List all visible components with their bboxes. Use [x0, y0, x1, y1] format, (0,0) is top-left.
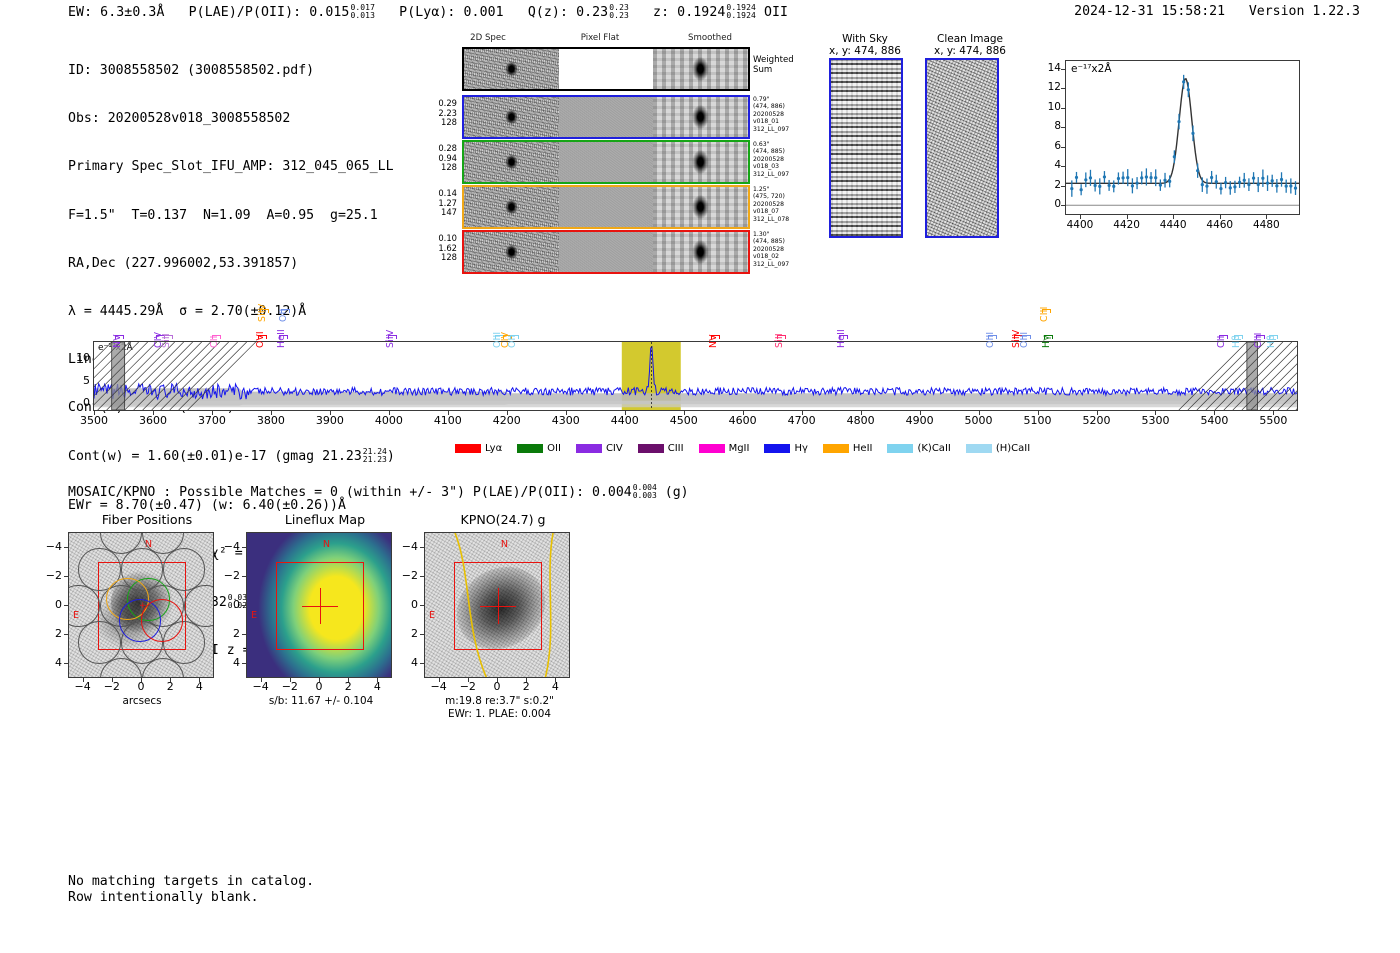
fullspec-xtick: 4400 — [600, 414, 650, 427]
legend-label: OII — [547, 443, 561, 454]
spec2d-row-fiber-3 — [462, 185, 750, 229]
spectral-line-bracket — [388, 335, 397, 339]
fullspec-ytick: 5 — [64, 374, 90, 387]
spec2d-right-labels-3: 1.25" (475, 720) 20200528 v018_07 312_LL… — [753, 186, 813, 223]
fullspec-xtick: 4100 — [423, 414, 473, 427]
panel-ytick: −2 — [216, 569, 240, 582]
qz-value: 0.23 — [576, 5, 608, 20]
fullspec-ytick: 10 — [64, 351, 90, 364]
legend-label: (H)CaII — [996, 443, 1030, 454]
fullspec-xtick: 4300 — [541, 414, 591, 427]
emline-xtick: 4440 — [1151, 219, 1195, 231]
spec2d-right-labels-2: 0.63" (474, 885) 20200528 v018_03 312_LL… — [753, 141, 813, 178]
timestamp-version: 2024-12-31 15:58:21 Version 1.22.3 — [1074, 4, 1360, 19]
fullspec-xtick: 3800 — [246, 414, 296, 427]
panel-ytick: 0 — [38, 598, 62, 611]
compass-east-label: E — [251, 610, 257, 621]
legend-label: MgII — [729, 443, 750, 454]
plae-label: P(LAE)/P(OII): — [189, 5, 302, 20]
emline-xtick: 4400 — [1058, 219, 1102, 231]
legend-item: CIII — [638, 443, 684, 454]
fullspec-xtick: 5100 — [1013, 414, 1063, 427]
spec2d-montage: 2D Spec Pixel Flat Smoothed WeightedSum … — [435, 33, 765, 245]
info-line-seeing: F=1.5" T=0.137 N=1.09 A=0.95 g=25.1 — [68, 208, 395, 224]
panel-ytick: 0 — [394, 598, 418, 611]
fullspec-xtick: 5000 — [954, 414, 1004, 427]
spectral-line-bracket — [212, 335, 221, 339]
clean-image-title: Clean Image x, y: 474, 886 — [920, 33, 1020, 58]
fullspec-xtick: 4700 — [777, 414, 827, 427]
legend-item: (K)CaII — [887, 443, 950, 454]
spectral-line-bracket — [279, 335, 288, 339]
fullspec-xtick: 5300 — [1130, 414, 1180, 427]
spectral-line-bracket — [510, 335, 519, 339]
emline-ytick: 10 — [1035, 101, 1061, 113]
fiber-circle — [78, 621, 120, 663]
info-line-obs: Obs: 20200528v018_3008558502 — [68, 111, 395, 127]
emline-ytick: 0 — [1035, 198, 1061, 210]
legend-swatch — [887, 444, 913, 453]
with-sky-image — [829, 58, 903, 238]
plae-value: 0.015 — [309, 5, 349, 20]
legend-item: Hγ — [764, 443, 807, 454]
emline-xtick: 4480 — [1244, 219, 1288, 231]
weighted-sum-label: WeightedSum — [753, 55, 794, 75]
clean-image — [925, 58, 999, 238]
legend-item: MgII — [699, 443, 750, 454]
spectral-line-bracket — [1234, 335, 1243, 339]
spectrum-legend: LyαOIICIVCIIIMgIIHγHeII(K)CaII(H)CaII — [455, 443, 1041, 454]
spectral-line-bracket — [1269, 335, 1278, 339]
panel-ytick: 4 — [394, 656, 418, 669]
timestamp: 2024-12-31 15:58:21 — [1074, 4, 1225, 19]
crosshair — [320, 588, 321, 623]
legend-swatch — [517, 444, 543, 453]
fullspec-xtick: 3900 — [305, 414, 355, 427]
panel-ytick: 4 — [216, 656, 240, 669]
spectral-line-bracket — [1256, 335, 1265, 339]
plae-lo: 0.013 — [350, 11, 375, 20]
fullspec-xtick: 3500 — [69, 414, 119, 427]
target-marker: + — [139, 603, 145, 609]
panel-ytick: −4 — [38, 540, 62, 553]
fullspec-xtick: 4900 — [895, 414, 945, 427]
spec2d-row-fiber-2 — [462, 140, 750, 184]
z-lo: 0.1924 — [726, 11, 756, 20]
kpno-image: NE — [424, 532, 570, 678]
emline-ytick: 4 — [1035, 159, 1061, 171]
footer-line-2: Row intentionally blank. — [68, 890, 314, 906]
panel-ytick: 2 — [38, 627, 62, 640]
z-type: OII — [764, 5, 788, 20]
emline-ytick: 12 — [1035, 81, 1061, 93]
spectral-line-bracket — [1219, 335, 1228, 339]
spec2d-right-labels-4: 1.30" (474, 885) 20200528 v018_02 312_LL… — [753, 231, 813, 268]
legend-label: Hγ — [794, 443, 807, 454]
qz-label: Q(z): — [528, 5, 568, 20]
col-title-2dspec: 2D Spec — [433, 33, 543, 43]
panel-ytick: −4 — [216, 540, 240, 553]
fullspec-xtick: 4500 — [659, 414, 709, 427]
with-sky-title: With Sky x, y: 474, 886 — [820, 33, 910, 58]
z-label: z: — [653, 5, 669, 20]
footer-note: No matching targets in catalog. Row inte… — [68, 874, 314, 907]
fiber-positions-image: NE+ — [68, 532, 214, 678]
panel-ytick: −2 — [38, 569, 62, 582]
info-line-slot: Primary Spec_Slot_IFU_AMP: 312_045_065_L… — [68, 159, 395, 175]
spec2d-row-summary — [462, 47, 750, 91]
panel-ytick: 0 — [216, 598, 240, 611]
mosaic-match-line: MOSAIC/KPNO : Possible Matches = 0 (with… — [68, 484, 689, 500]
legend-swatch — [823, 444, 849, 453]
legend-label: CIV — [606, 443, 623, 454]
spectral-line-label: OVI — [255, 331, 266, 348]
info-line-id: ID: 3008558502 (3008558502.pdf) — [68, 63, 395, 79]
fullspec-xtick: 5400 — [1189, 414, 1239, 427]
spec2d-left-labels-3: 0.14 1.27 147 — [413, 189, 457, 218]
emission-line-plot: e⁻¹⁷x2Å 0246810121444004420444044604480 — [1035, 55, 1305, 245]
fullspec-xtick: 4600 — [718, 414, 768, 427]
fiber-positions-title: Fiber Positions — [62, 512, 232, 527]
z-value: 0.1924 — [677, 5, 725, 20]
legend-label: CIII — [668, 443, 684, 454]
spec2d-row-fiber-4 — [462, 230, 750, 274]
kpno-caption: m:19.8 re:3.7" s:0.2" EWr: 1. PLAE: 0.00… — [412, 695, 587, 721]
fiber-circle — [163, 548, 205, 590]
compass-north-label: N — [323, 539, 330, 550]
spectral-line-bracket — [115, 335, 124, 339]
spectral-line-bracket — [164, 335, 173, 339]
info-line-radec: RA,Dec (227.996002,53.391857) — [68, 256, 395, 272]
legend-item: HeII — [823, 443, 873, 454]
summary-header: EW: 6.3±0.3Å P(LAE)/P(OII): 0.0150.0170.… — [68, 4, 788, 20]
legend-swatch — [638, 444, 664, 453]
spec2d-left-labels-1: 0.29 2.23 128 — [413, 99, 457, 128]
panel-ytick: 2 — [394, 627, 418, 640]
fiber-circle-selected — [141, 599, 183, 641]
legend-item: (H)CaII — [966, 443, 1030, 454]
elixer-report-page: EW: 6.3±0.3Å P(LAE)/P(OII): 0.0150.0170.… — [0, 0, 1400, 953]
emline-ytick: 2 — [1035, 179, 1061, 191]
emline-xtick: 4420 — [1105, 219, 1149, 231]
spectral-line-bracket — [839, 335, 848, 339]
fullspec-xtick: 4000 — [364, 414, 414, 427]
legend-swatch — [576, 444, 602, 453]
spec2d-left-labels-4: 0.10 1.62 128 — [413, 234, 457, 263]
fullspec-xtick: 3700 — [187, 414, 237, 427]
panel-ytick: −4 — [394, 540, 418, 553]
emline-ytick: 14 — [1035, 62, 1061, 74]
lineflux-map-title: Lineflux Map — [240, 512, 410, 527]
spectral-line-bracket — [1044, 335, 1053, 339]
spectral-line-bracket — [258, 335, 267, 339]
legend-item: CIV — [576, 443, 623, 454]
legend-swatch — [966, 444, 992, 453]
legend-swatch — [699, 444, 725, 453]
fullspec-xtick: 5500 — [1248, 414, 1298, 427]
ew-label: EW: — [68, 5, 92, 20]
panel-ytick: −2 — [394, 569, 418, 582]
legend-swatch — [455, 444, 481, 453]
fullspec-xtick: 4800 — [836, 414, 886, 427]
legend-item: OII — [517, 443, 561, 454]
spectral-line-bracket — [777, 335, 786, 339]
plya-value: 0.001 — [463, 5, 503, 20]
lineflux-map-image: NE — [246, 532, 392, 678]
emline-ytick: 8 — [1035, 120, 1061, 132]
lineflux-map-caption: s/b: 11.67 +/- 0.104 — [236, 695, 406, 708]
version-label: Version 1.22.3 — [1249, 4, 1360, 19]
spectral-line-bracket — [281, 309, 290, 313]
emline-xtick: 4460 — [1198, 219, 1242, 231]
fullspec-xtick: 4200 — [482, 414, 532, 427]
fullspec-xtick: 3600 — [128, 414, 178, 427]
spec2d-right-labels-1: 0.79" (474, 886) 20200528 v018_01 312_LL… — [753, 96, 813, 133]
footer-line-1: No matching targets in catalog. — [68, 874, 314, 890]
legend-swatch — [764, 444, 790, 453]
spectral-line-bracket — [988, 335, 997, 339]
ew-value: 6.3±0.3Å — [100, 5, 164, 20]
panel-ytick: 2 — [216, 627, 240, 640]
full-spectrum-plot: e⁻¹⁷x2Å 05103500360037003800390040004100… — [68, 275, 1313, 465]
col-title-smoothed: Smoothed — [655, 33, 765, 43]
qz-lo: 0.23 — [609, 11, 629, 20]
kpno-title: KPNO(24.7) g — [418, 512, 588, 527]
legend-label: (K)CaII — [917, 443, 950, 454]
spec2d-row-fiber-1 — [462, 95, 750, 139]
emline-ytick: 6 — [1035, 140, 1061, 152]
legend-label: HeII — [853, 443, 873, 454]
spectral-line-bracket — [711, 335, 720, 339]
plya-label: P(Lyα): — [399, 5, 455, 20]
fullspec-xtick: 5200 — [1072, 414, 1122, 427]
spectral-line-bracket — [260, 309, 269, 313]
col-title-pixelflat: Pixel Flat — [545, 33, 655, 43]
fiber-positions-caption: arcsecs — [62, 695, 222, 708]
spec2d-left-labels-2: 0.28 0.94 128 — [413, 144, 457, 173]
spectral-line-bracket — [1022, 335, 1031, 339]
legend-item: Lyα — [455, 443, 502, 454]
legend-label: Lyα — [485, 443, 502, 454]
spectral-line-bracket — [1042, 309, 1051, 313]
fullspec-ytick: 0 — [64, 396, 90, 409]
panel-ytick: 4 — [38, 656, 62, 669]
